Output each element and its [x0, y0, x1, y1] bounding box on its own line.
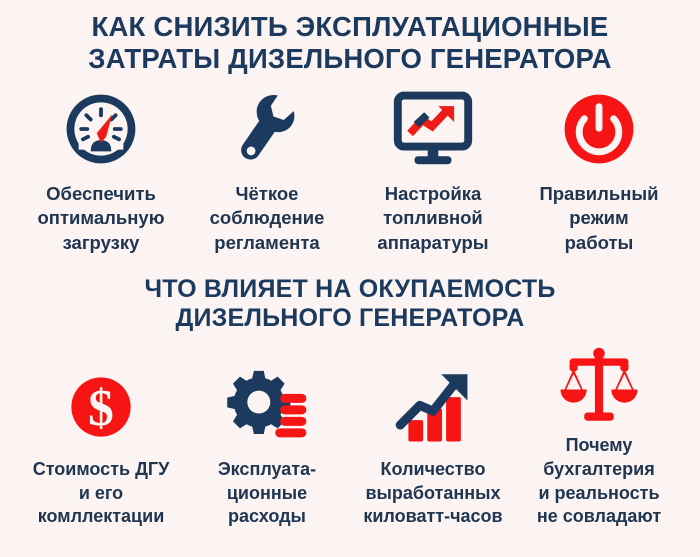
caption-line: топливной [377, 206, 488, 230]
caption-line: Эксплуата- [218, 458, 316, 482]
section-payback: ЧТО ВЛИЯЕТ НА ОКУПАЕМОСТЬ ДИЗЕЛЬНОГО ГЕН… [0, 275, 700, 529]
caption-line: аппаратуры [377, 231, 488, 255]
item-operating-expenses: Эксплуата- ционные расходы [184, 363, 350, 529]
item-correct-operating-mode: Правильный режим работы [516, 83, 682, 255]
wrench-icon [224, 83, 310, 175]
infographic-page: КАК СНИЗИТЬ ЭКСПЛУАТАЦИОННЫЕ ЗАТРАТЫ ДИЗ… [0, 0, 700, 557]
caption-line: соблюдение [210, 206, 325, 230]
caption-correct-operating-mode: Правильный режим работы [539, 182, 658, 255]
page-title-primary: КАК СНИЗИТЬ ЭКСПЛУАТАЦИОННЫЕ ЗАТРАТЫ ДИЗ… [0, 0, 700, 75]
caption-line: бухгалтерия [537, 458, 661, 482]
caption-line: Настройка [377, 182, 488, 206]
caption-line: Правильный [539, 182, 658, 206]
caption-optimal-load: Обеспечить оптимальную загрузку [37, 182, 164, 255]
icon-row-payback: $ Стоимость ДГУ и его комллектации [0, 339, 700, 529]
caption-line: оптимальную [37, 206, 164, 230]
caption-line: комллектации [33, 505, 170, 529]
title-line-1: КАК СНИЗИТЬ ЭКСПЛУАТАЦИОННЫЕ [46, 11, 654, 43]
item-fuel-system-tuning: Настройка топливной аппаратуры [350, 83, 516, 255]
caption-maintenance-schedule: Чёткое соблюдение регламента [210, 182, 325, 255]
gear-coins-icon [224, 363, 310, 451]
caption-genset-cost: Стоимость ДГУ и его комллектации [33, 458, 170, 529]
caption-line: Почему [537, 434, 661, 458]
item-maintenance-schedule: Чёткое соблюдение регламента [184, 83, 350, 255]
dollar-coin-icon: $ [62, 363, 140, 451]
section-reduce-costs: КАК СНИЗИТЬ ЭКСПЛУАТАЦИОННЫЕ ЗАТРАТЫ ДИЗ… [0, 0, 700, 255]
item-accounting-vs-reality: Почему бухгалтерия и реальность не совла… [516, 339, 682, 529]
page-title-secondary: ЧТО ВЛИЯЕТ НА ОКУПАЕМОСТЬ ДИЗЕЛЬНОГО ГЕН… [0, 275, 700, 333]
power-button-icon [556, 83, 642, 175]
caption-kwh-generated: Количество выработанных киловатт-часов [363, 458, 502, 529]
caption-line: Количество [363, 458, 502, 482]
caption-line: и его [33, 482, 170, 506]
item-genset-cost: $ Стоимость ДГУ и его комллектации [18, 363, 184, 529]
growth-chart-icon [390, 363, 476, 451]
caption-line: загрузку [37, 231, 164, 255]
title-line-2: ЗАТРАТЫ ДИЗЕЛЬНОГО ГЕНЕРАТОРА [46, 43, 654, 75]
monitor-chart-icon [389, 83, 477, 175]
title-line-1: ЧТО ВЛИЯЕТ НА ОКУПАЕМОСТЬ [52, 275, 648, 304]
caption-accounting-vs-reality: Почему бухгалтерия и реальность не совла… [537, 434, 661, 529]
caption-line: расходы [218, 505, 316, 529]
caption-line: выработанных [363, 482, 502, 506]
icon-row-reduce-costs: Обеспечить оптимальную загрузку Чётк [0, 83, 700, 255]
item-optimal-load: Обеспечить оптимальную загрузку [18, 83, 184, 255]
caption-line: и реальность [537, 482, 661, 506]
speedometer-icon [58, 83, 144, 175]
svg-text:$: $ [88, 380, 114, 437]
title-line-2: ДИЗЕЛЬНОГО ГЕНЕРАТОРА [52, 304, 648, 333]
caption-line: ционные [218, 482, 316, 506]
caption-line: Обеспечить [37, 182, 164, 206]
caption-line: киловатт-часов [363, 505, 502, 529]
caption-line: регламента [210, 231, 325, 255]
caption-operating-expenses: Эксплуата- ционные расходы [218, 458, 316, 529]
caption-line: режим [539, 206, 658, 230]
caption-line: Стоимость ДГУ [33, 458, 170, 482]
caption-line: Чёткое [210, 182, 325, 206]
caption-line: не совладают [537, 505, 661, 529]
caption-line: работы [539, 231, 658, 255]
item-kwh-generated: Количество выработанных киловатт-часов [350, 363, 516, 529]
caption-fuel-system-tuning: Настройка топливной аппаратуры [377, 182, 488, 255]
scales-icon [558, 339, 640, 427]
